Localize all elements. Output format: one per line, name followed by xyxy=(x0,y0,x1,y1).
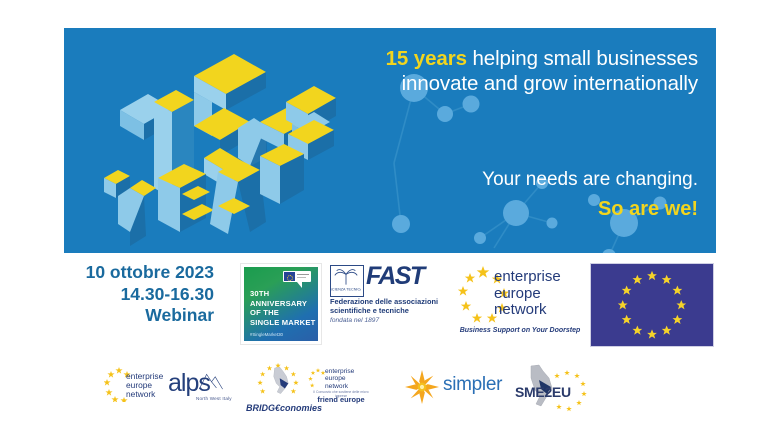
friend-europe-een-wordmark: enterprise europe network xyxy=(325,368,354,390)
svg-text:SCIENZA TECNICA: SCIENZA TECNICA xyxy=(331,287,361,291)
single-market-line4: SINGLE MARKET xyxy=(250,318,315,328)
logo-fast: SCIENZA TECNICA FAST Federazione delle a… xyxy=(330,263,450,341)
palm-tree-icon: SCIENZA TECNICA xyxy=(331,266,361,294)
fifteen-years-artwork xyxy=(82,34,352,249)
een-word-europe: europe xyxy=(494,286,561,303)
logo-alps: alps North West Italy xyxy=(168,366,246,410)
logo-simpler: simpler xyxy=(405,370,505,406)
single-market-line1: 30TH xyxy=(250,289,315,299)
hero-headline-highlight: 15 years xyxy=(386,47,467,70)
event-details: 10 ottobre 2023 14.30-16.30 Webinar xyxy=(58,262,214,327)
logo-single-market-30th: 30TH ANNIVERSARY OF THE SINGLE MARKET #S… xyxy=(240,263,322,345)
fast-wordmark: FAST xyxy=(366,263,424,289)
logo-sme2eu: SME2EU xyxy=(505,362,601,414)
fast-subtitle-line2: scientifiche e tecniche xyxy=(330,306,450,315)
fast-emblem-icon: SCIENZA TECNICA xyxy=(330,265,364,297)
single-market-hashtag: #SingleMarket30 xyxy=(250,332,283,337)
fast-subtitle-line1: Federazione delle associazioni xyxy=(330,297,450,306)
eu-stars-circle-icon xyxy=(591,264,713,346)
single-market-text: 30TH ANNIVERSARY OF THE SINGLE MARKET xyxy=(250,289,315,327)
friend-word-enterprise: enterprise xyxy=(325,368,354,375)
hero-banner: 15 years helping small businesses innova… xyxy=(64,28,716,253)
hero-tagline: So are we! xyxy=(338,196,698,222)
alps-wordmark: alps xyxy=(168,370,210,396)
alps-subtitle: North West Italy xyxy=(196,396,232,401)
hero-subline: Your needs are changing. xyxy=(338,168,698,192)
sme2eu-wordmark: SME2EU xyxy=(515,384,571,400)
event-date: 10 ottobre 2023 xyxy=(58,262,214,284)
hero-headline: 15 years helping small businesses innova… xyxy=(338,46,698,96)
logo-enterprise-europe-network: enterprise europe network Business Suppo… xyxy=(458,261,582,349)
logo-european-union-flag xyxy=(590,263,714,347)
fast-founded: fondata nel 1897 xyxy=(330,317,379,324)
een-word-network: network xyxy=(494,302,561,319)
speech-bubble-tail-icon xyxy=(297,282,302,288)
single-market-gradient-panel: 30TH ANNIVERSARY OF THE SINGLE MARKET #S… xyxy=(244,267,318,341)
een-tagline: Business Support on Your Doorstep xyxy=(458,327,582,334)
een-wordmark: enterprise europe network xyxy=(494,269,561,319)
logo-friend-europe: enterprise europe network Il Consorzio c… xyxy=(307,364,375,412)
fast-subtitle: Federazione delle associazioni scientifi… xyxy=(330,297,450,316)
speech-bubble-icon xyxy=(283,271,311,282)
single-market-line2: ANNIVERSARY xyxy=(250,299,315,309)
event-time: 14.30-16.30 xyxy=(58,284,214,306)
een-word-enterprise: enterprise xyxy=(494,269,561,286)
single-market-line3: OF THE xyxy=(250,308,315,318)
een-small-wordmark: enterprise europe network xyxy=(126,372,163,400)
friend-word-europe: europe xyxy=(325,375,354,382)
event-format: Webinar xyxy=(58,305,214,327)
friend-europe-wordmark: friend europe xyxy=(307,395,375,404)
hero-subcopy: Your needs are changing. So are we! xyxy=(338,168,698,222)
simpler-wordmark: simpler xyxy=(443,374,502,396)
poster-canvas: 15 years helping small businesses innova… xyxy=(0,0,768,432)
een-small-word-network: network xyxy=(126,390,163,399)
starburst-icon xyxy=(405,370,439,404)
